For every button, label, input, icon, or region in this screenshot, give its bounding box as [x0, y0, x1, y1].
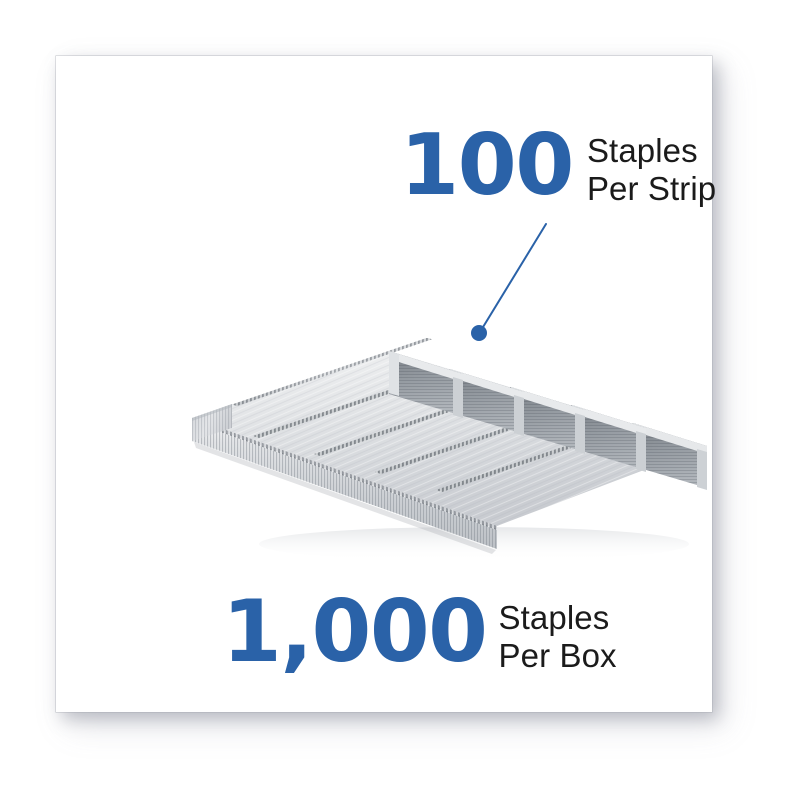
box-label: Staples Per Box	[499, 599, 617, 676]
box-count-number: 1,000	[222, 592, 487, 674]
product-card: 100 Staples Per Strip 1,000 Staples Per …	[56, 56, 712, 712]
box-label-line1: Staples	[499, 599, 617, 637]
staple-block-image	[174, 338, 754, 608]
infographic-page: 100 Staples Per Strip 1,000 Staples Per …	[0, 0, 800, 800]
callout-staples-per-strip: 100 Staples Per Strip	[400, 126, 716, 209]
strip-label-line1: Staples	[587, 132, 716, 170]
strip-count-number: 100	[400, 126, 573, 207]
box-label-line2: Per Box	[499, 637, 617, 675]
callout-staples-per-box: 1,000 Staples Per Box	[222, 592, 617, 676]
staple-block-svg	[174, 338, 754, 608]
strip-label: Staples Per Strip	[587, 132, 716, 209]
strip-label-line2: Per Strip	[587, 170, 716, 208]
